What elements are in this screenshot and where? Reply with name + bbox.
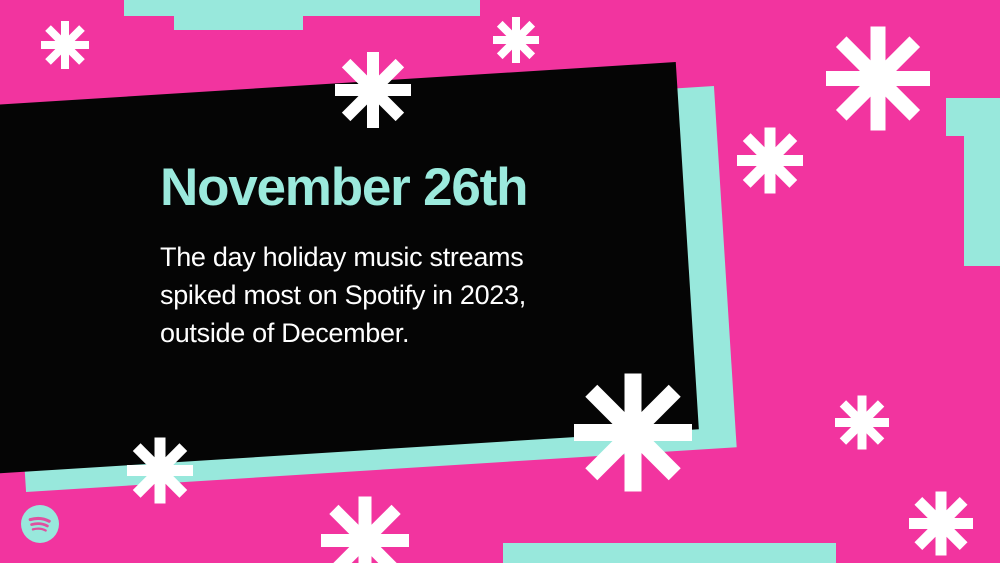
asterisk-bottom-right-icon bbox=[909, 491, 973, 555]
mint-block-bottom bbox=[503, 543, 836, 563]
page-title: November 26th bbox=[160, 160, 590, 216]
asterisk-bottom-center-icon bbox=[321, 496, 409, 563]
spotify-logo-icon bbox=[20, 504, 60, 544]
asterisk-right-upper-icon bbox=[737, 127, 803, 193]
asterisk-right-lower-icon bbox=[835, 395, 889, 449]
mint-block-right-wide bbox=[964, 130, 1000, 266]
asterisk-top-center-icon bbox=[493, 17, 539, 63]
card-body-text: The day holiday music streams spiked mos… bbox=[160, 238, 590, 353]
card-copy: November 26th The day holiday music stre… bbox=[160, 160, 590, 353]
asterisk-top-left-icon bbox=[41, 21, 89, 69]
asterisk-top-right-big-icon bbox=[826, 26, 930, 130]
spotify-logo bbox=[20, 504, 60, 544]
promo-graphic: November 26th The day holiday music stre… bbox=[0, 0, 1000, 563]
mint-block-top-tall bbox=[174, 0, 303, 30]
